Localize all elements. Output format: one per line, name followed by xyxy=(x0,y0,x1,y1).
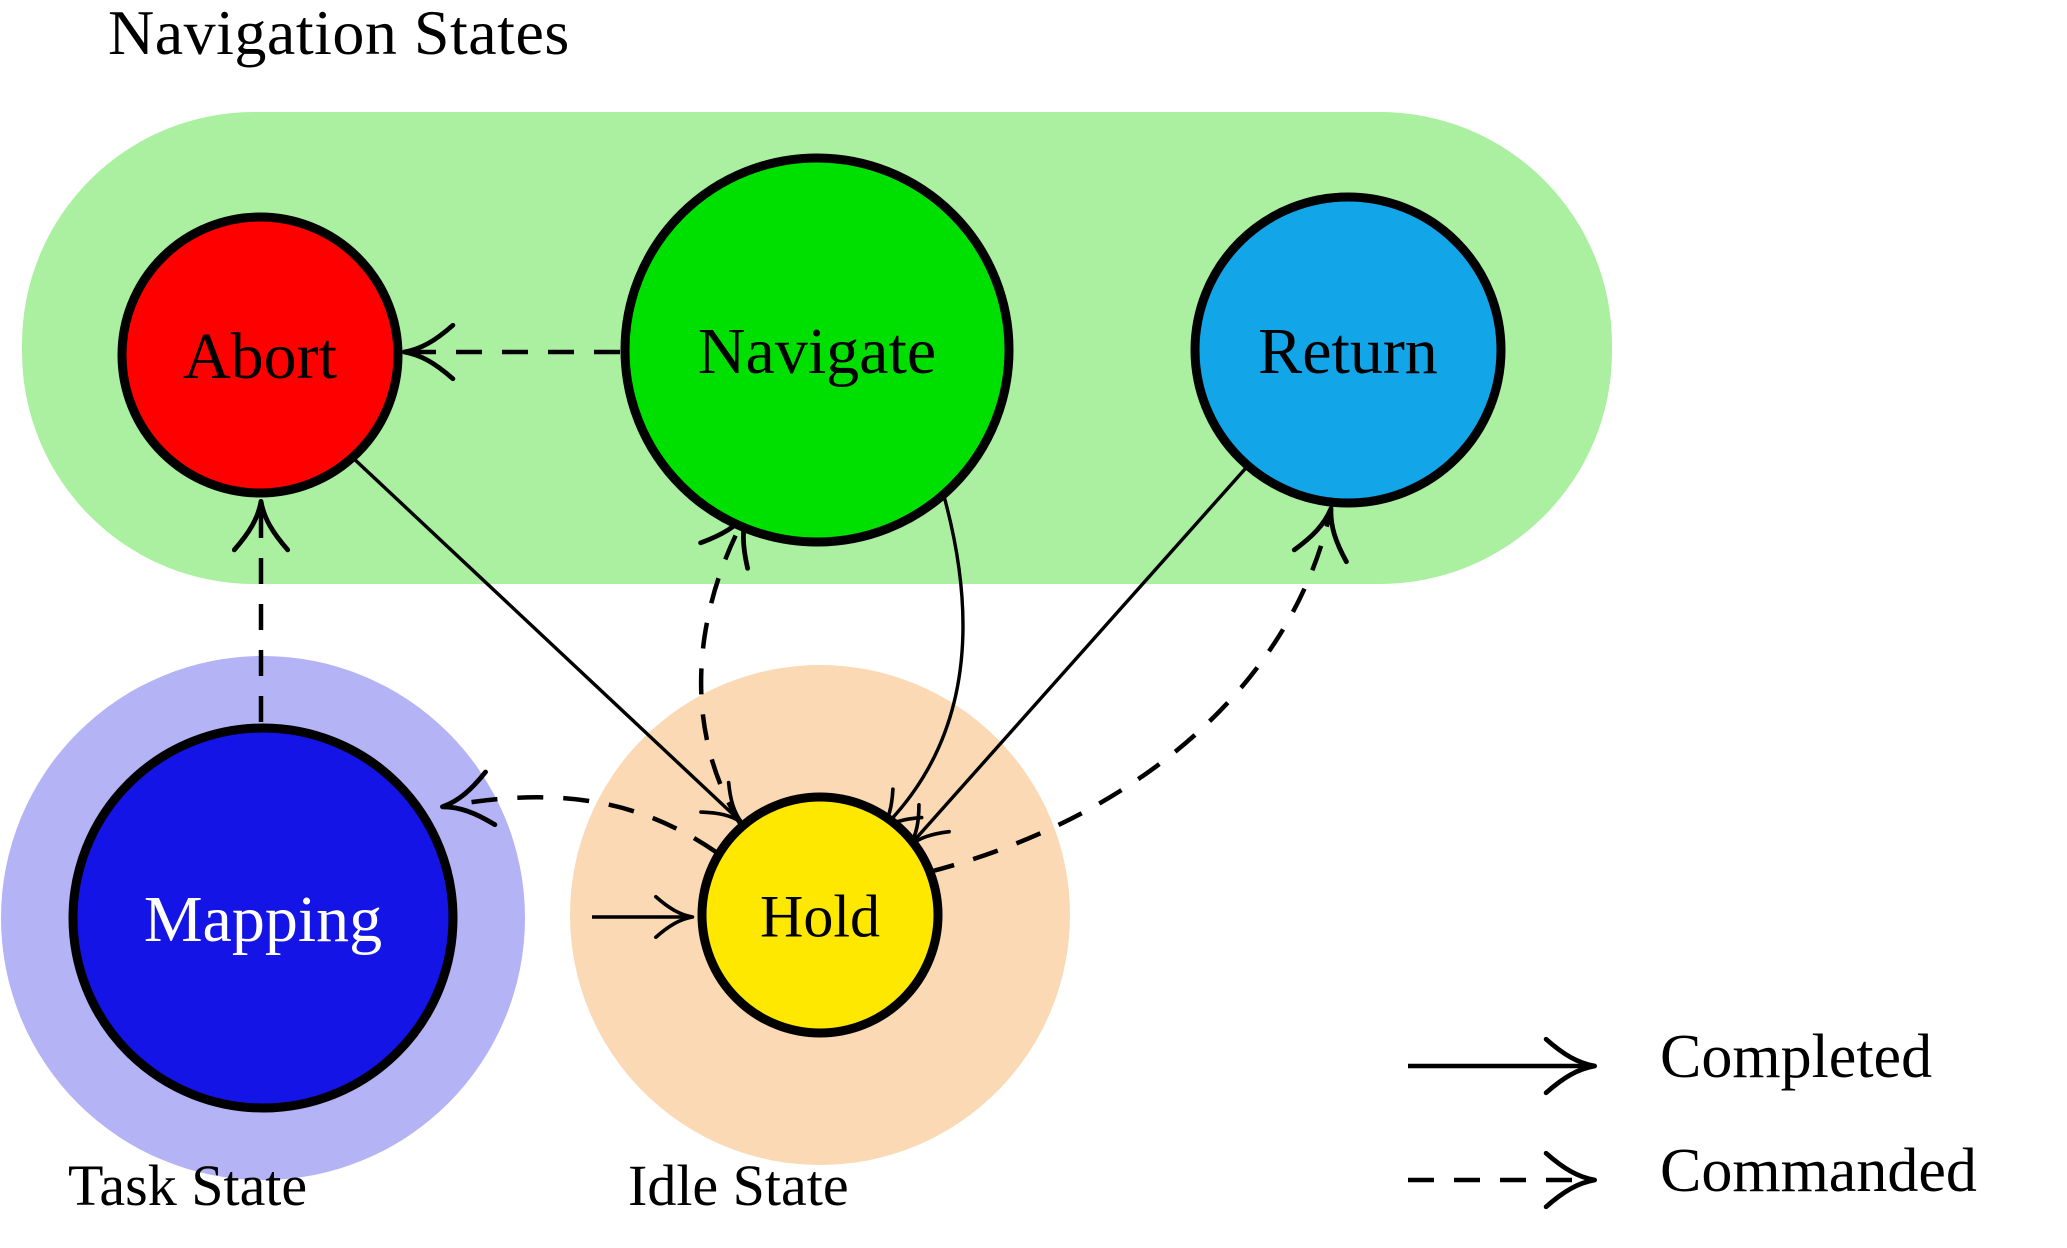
legend-item-completed-label: Completed xyxy=(1660,1022,1932,1093)
state-diagram: Navigation States Abort Navigate Return … xyxy=(0,0,2067,1248)
node-abort[interactable] xyxy=(122,217,398,493)
group-task-state-label: Task State xyxy=(68,1152,307,1219)
node-hold[interactable] xyxy=(702,797,938,1033)
page-title: Navigation States xyxy=(108,0,570,70)
group-idle-state-label: Idle State xyxy=(628,1152,849,1219)
legend-item-commanded-label: Commanded xyxy=(1660,1136,1977,1207)
node-navigate[interactable] xyxy=(625,158,1009,542)
node-return[interactable] xyxy=(1195,197,1501,503)
node-mapping[interactable] xyxy=(73,728,453,1108)
